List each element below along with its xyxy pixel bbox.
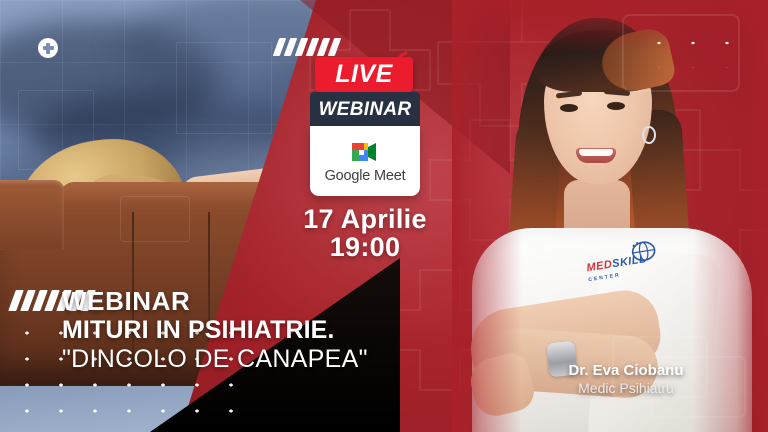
- doctor-hoop-earring: [642, 126, 656, 144]
- headline-subtitle: "DINCOLO DE CANAPEA": [62, 345, 482, 374]
- decor-rect: [120, 196, 190, 242]
- headline-block: WEBINAR MITURI IN PSIHIATRIE. "DINCOLO D…: [62, 288, 482, 374]
- speaker-credit: Dr. Eva Ciobanu Medic Psihiatru: [484, 362, 768, 398]
- webinar-poster: MEDSKILL CENTER: [0, 0, 768, 432]
- dot-grid-top-right: [638, 26, 754, 68]
- google-meet-icon: [348, 139, 382, 165]
- logo-med-text: MED: [586, 258, 614, 274]
- schedule-block: 17 Aprilie 19:00: [258, 206, 472, 261]
- medskill-sphere-icon: [629, 239, 658, 263]
- slash-stripes-top: [276, 38, 338, 56]
- cross-horizontal-bar: [43, 46, 54, 49]
- google-meet-card[interactable]: Google Meet: [310, 126, 420, 196]
- live-badge: LIVE: [315, 57, 413, 92]
- speaker-name: Dr. Eva Ciobanu: [484, 362, 768, 380]
- webinar-badge-label: WEBINAR: [319, 100, 412, 119]
- headline-kicker: WEBINAR: [62, 288, 482, 314]
- speaker-role: Medic Psihiatru: [484, 380, 768, 398]
- headline-title: MITURI IN PSIHIATRIE.: [62, 316, 482, 344]
- doctor-teeth: [579, 149, 613, 156]
- event-time: 19:00: [258, 234, 472, 262]
- event-date: 17 Aprilie: [258, 206, 472, 234]
- doctor-eye-left: [560, 104, 578, 112]
- doctor-eye-right: [607, 102, 625, 110]
- webinar-badge: WEBINAR: [310, 92, 420, 126]
- live-badge-label: LIVE: [335, 62, 393, 87]
- medical-cross-icon: [38, 38, 58, 58]
- google-meet-label: Google Meet: [325, 168, 406, 184]
